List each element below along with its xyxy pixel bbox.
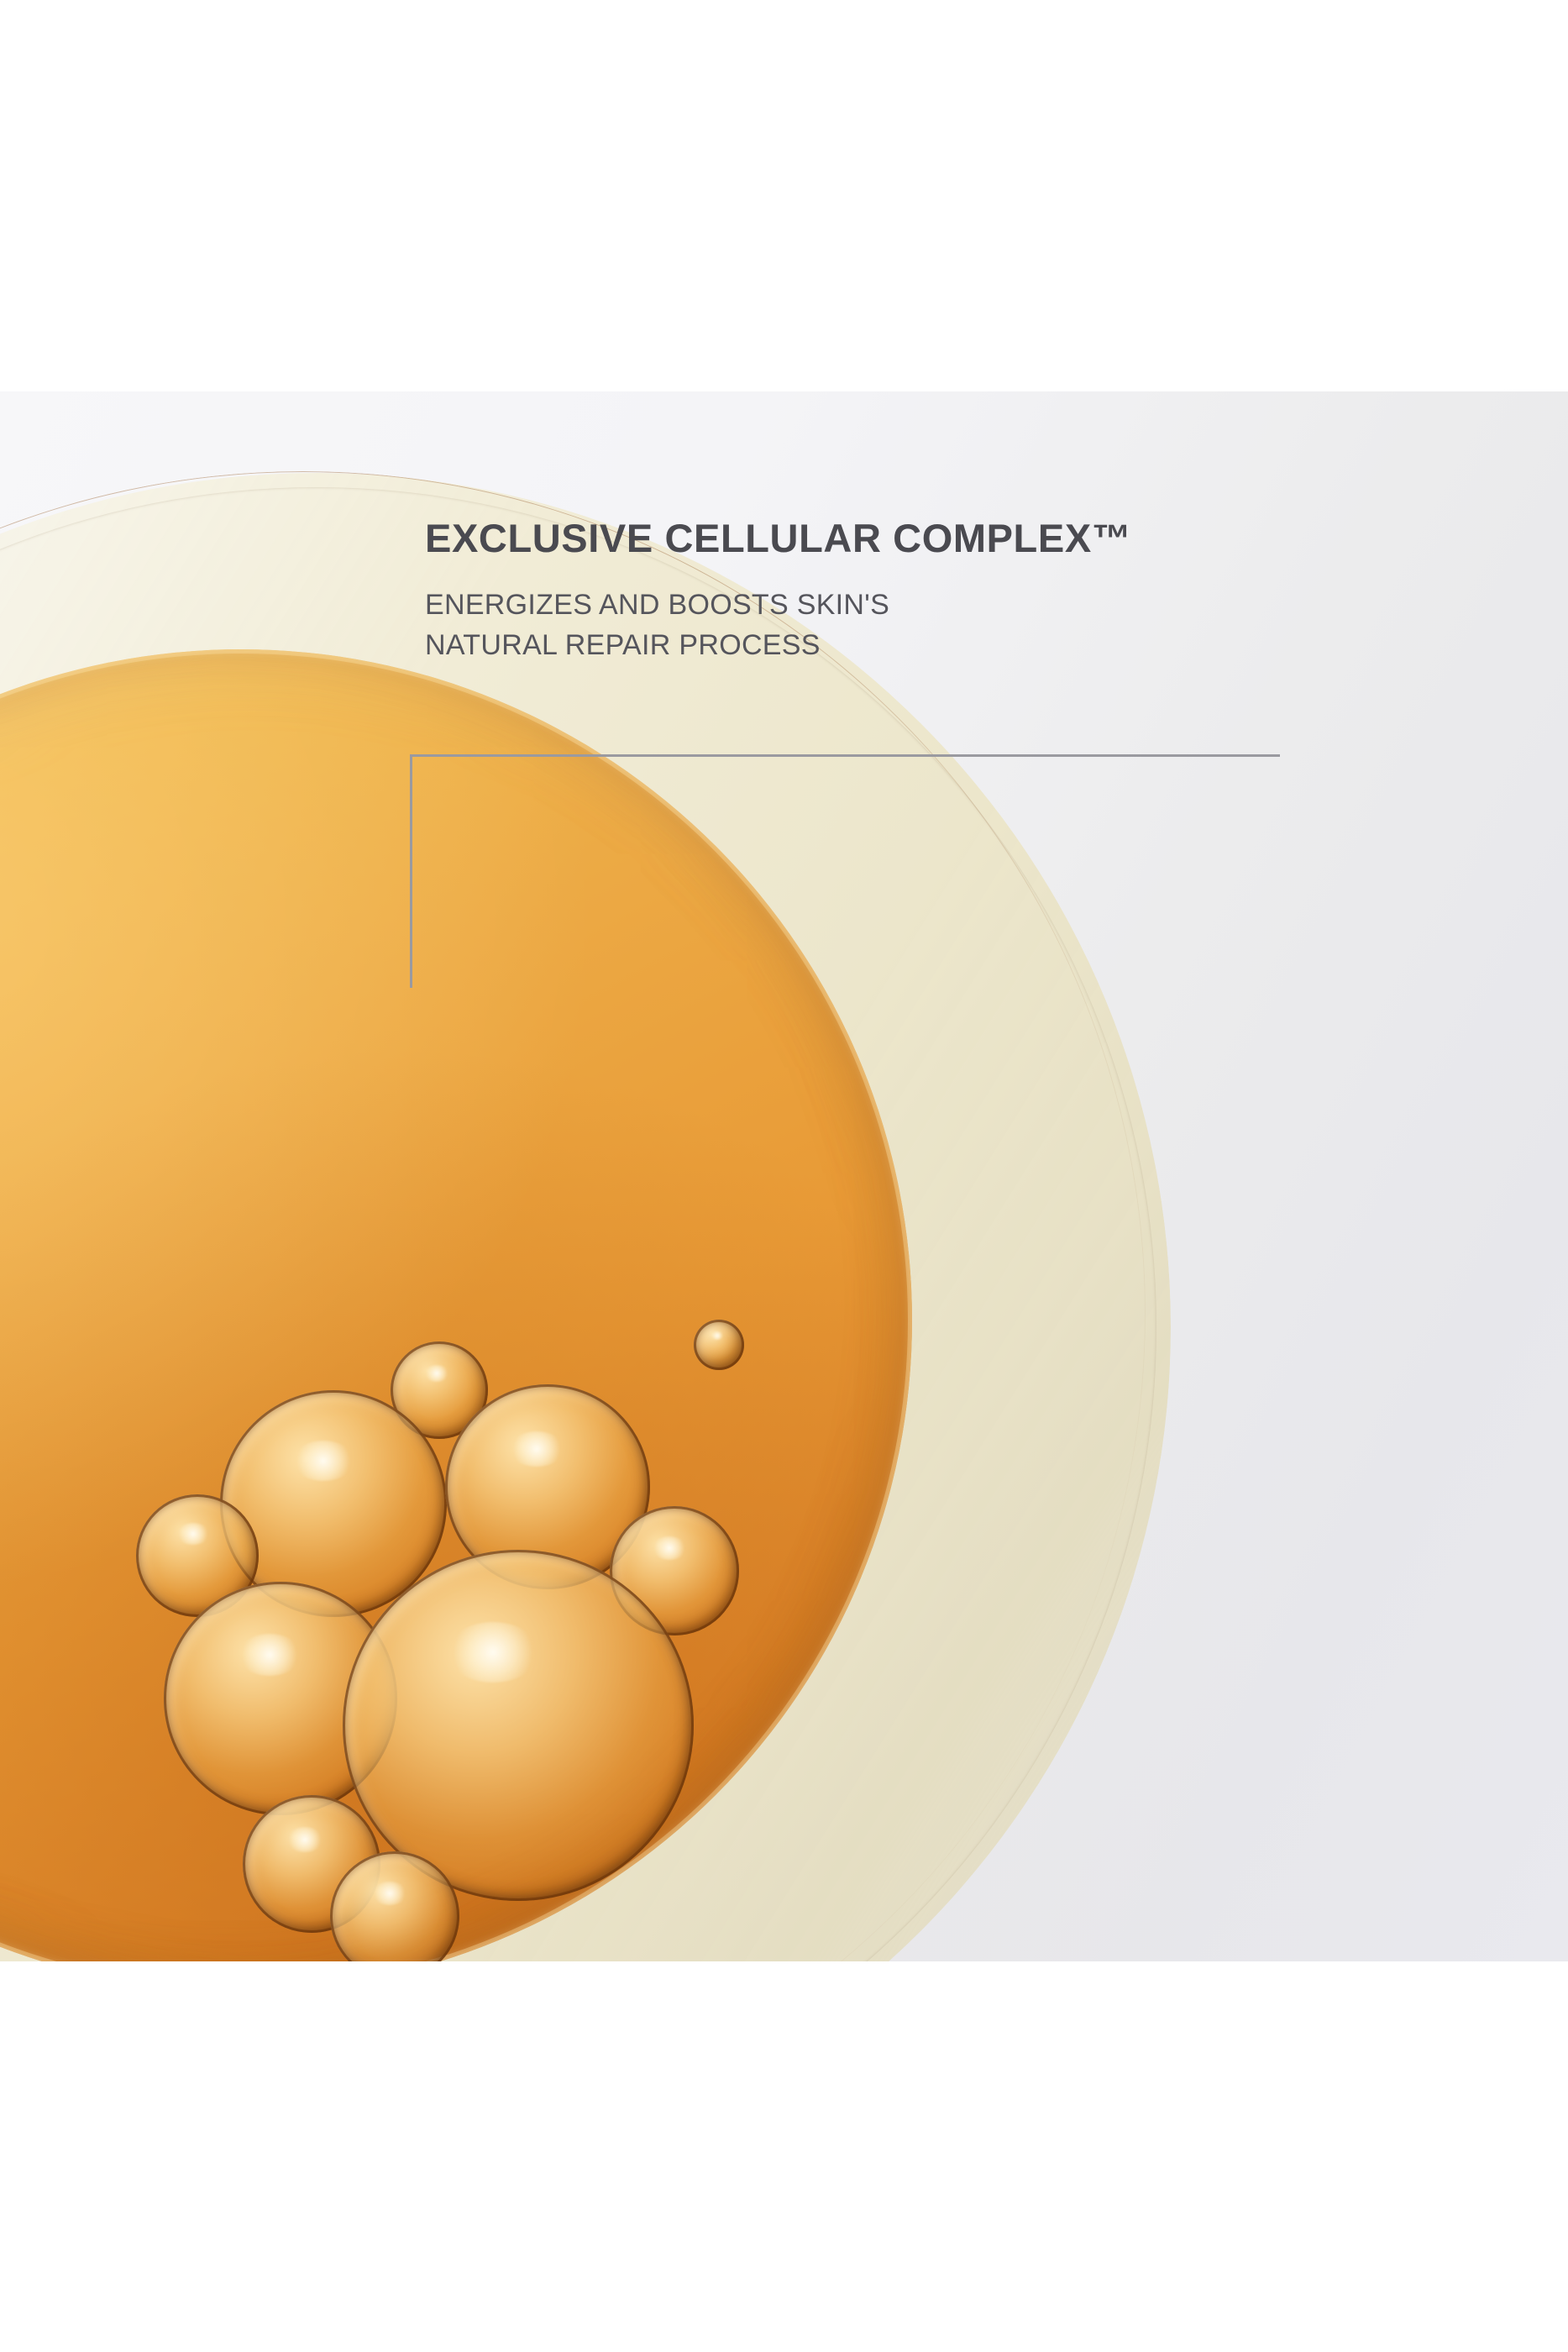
bubble-right-small — [610, 1506, 739, 1635]
bubble-shell — [330, 1851, 459, 1961]
bubble-specular-glint — [238, 1634, 302, 1676]
bubble-specular-glint — [424, 1365, 449, 1382]
dish-rim-ring — [0, 473, 1171, 1961]
bubble-refraction-ring — [164, 1582, 397, 1815]
bubble-rim-light — [694, 1320, 744, 1370]
bubble-shell — [610, 1506, 739, 1635]
bubble-isolated — [694, 1320, 744, 1370]
bubble-lower-left — [243, 1795, 380, 1933]
bubble-specular-glint — [372, 1882, 407, 1905]
bubble-rim-light — [445, 1384, 650, 1589]
headline: EXCLUSIVE CELLULAR COMPLEX™ — [425, 514, 1483, 563]
bubble-refraction-ring — [220, 1390, 447, 1617]
bubble-center-large — [343, 1550, 694, 1901]
bubble-rim-light — [136, 1494, 259, 1617]
bubble-rim-light — [164, 1582, 397, 1815]
bubble-specular-glint — [447, 1622, 539, 1683]
bubble-left-small — [136, 1494, 259, 1617]
bubble-refraction-ring — [610, 1506, 739, 1635]
bubble-rim-light — [243, 1795, 380, 1933]
dish-glass-body — [0, 473, 1142, 1961]
dish-drop-shadow — [0, 495, 1151, 1961]
subheadline-line-2: NATURAL REPAIR PROCESS — [425, 625, 1483, 665]
bubble-refraction-ring — [445, 1384, 650, 1589]
copy-block: EXCLUSIVE CELLULAR COMPLEX™ ENERGIZES AN… — [425, 514, 1483, 665]
subheadline: ENERGIZES AND BOOSTS SKIN'S NATURAL REPA… — [425, 563, 1483, 665]
bubble-refraction-ring — [694, 1320, 744, 1370]
golden-oil-pool — [0, 649, 912, 1961]
bubble-refraction-ring — [243, 1795, 380, 1933]
bubble-rim-light — [343, 1550, 694, 1901]
bubble-upper-left — [220, 1390, 447, 1617]
bubble-shell — [445, 1384, 650, 1589]
bubble-rim-light — [330, 1851, 459, 1961]
bubble-shell — [136, 1494, 259, 1617]
bubble-specular-glint — [509, 1431, 564, 1467]
bubble-rim-light — [610, 1506, 739, 1635]
bubble-shell — [164, 1582, 397, 1815]
top-white-band — [0, 0, 1568, 391]
glass-petri-dish — [0, 473, 1159, 1961]
bottom-white-band — [0, 1961, 1568, 2352]
bubble-shell — [220, 1390, 447, 1617]
bubble-mid-left — [164, 1582, 397, 1815]
bubble-shell — [243, 1795, 380, 1933]
oil-meniscus — [0, 649, 912, 1961]
bubble-refraction-ring — [330, 1851, 459, 1961]
bubble-refraction-ring — [391, 1341, 488, 1439]
bubble-lower-mid — [330, 1851, 459, 1961]
bubble-specular-glint — [292, 1441, 354, 1481]
subheadline-line-1: ENERGIZES AND BOOSTS SKIN'S — [425, 585, 1483, 625]
bubble-refraction-ring — [136, 1494, 259, 1617]
bubble-specular-glint — [286, 1827, 323, 1852]
bubble-rim-light — [391, 1341, 488, 1439]
bubble-specular-glint — [176, 1523, 210, 1545]
hero-canvas: EXCLUSIVE CELLULAR COMPLEX™ ENERGIZES AN… — [0, 0, 1568, 2352]
bubble-specular-glint — [652, 1536, 687, 1560]
dish-refraction-hairline — [0, 471, 1146, 1961]
bubble-rim-light — [220, 1390, 447, 1617]
bubble-shell — [694, 1320, 744, 1370]
bubble-refraction-ring — [343, 1550, 694, 1901]
bubble-specular-glint — [711, 1331, 724, 1340]
bubble-shell — [391, 1341, 488, 1439]
bubble-upper-right — [445, 1384, 650, 1589]
bubble-top-small — [391, 1341, 488, 1439]
bubble-shell — [343, 1550, 694, 1901]
